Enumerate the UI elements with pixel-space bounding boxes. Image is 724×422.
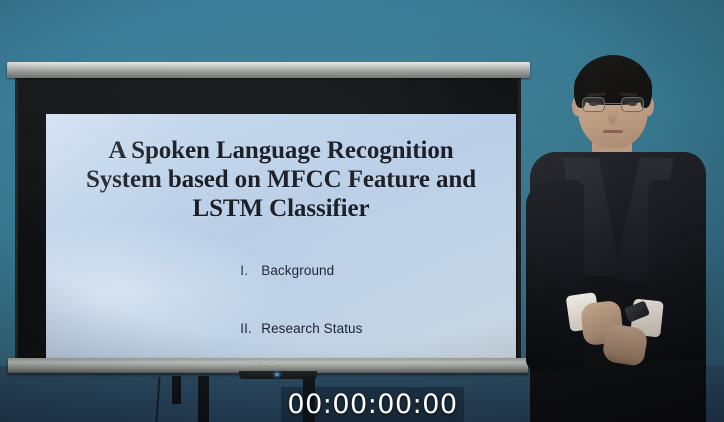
slide-title: A Spoken Language Recognition System bas… bbox=[58, 136, 504, 223]
list-item: II.Research Status bbox=[194, 300, 494, 359]
display-stand-leg-center bbox=[198, 376, 209, 422]
flat-panel-display[interactable]: A Spoken Language Recognition System bas… bbox=[7, 62, 530, 378]
eyeglass-bridge bbox=[605, 103, 621, 104]
timecode-display: 00:00:00:00 bbox=[281, 387, 464, 422]
slide-title-line-1: A Spoken Language Recognition bbox=[58, 136, 504, 165]
presentation-slide[interactable]: A Spoken Language Recognition System bas… bbox=[46, 114, 516, 360]
presenter-mouth bbox=[603, 130, 623, 133]
eyeglass-lens-right bbox=[621, 97, 644, 112]
outline-label: Background bbox=[261, 263, 334, 278]
display-stand-leg-left bbox=[172, 376, 181, 404]
presenter-hand-right bbox=[601, 323, 648, 367]
list-item: I.Background bbox=[194, 241, 494, 300]
presenter-nose bbox=[608, 108, 617, 124]
slide-title-line-2: System based on MFCC Feature and bbox=[58, 165, 504, 194]
outline-numeral: I. bbox=[240, 261, 261, 281]
eyeglass-lens-left bbox=[582, 97, 605, 112]
slide-title-line-3: LSTM Classifier bbox=[58, 194, 504, 223]
display-brand-logo: TEACH bbox=[232, 360, 302, 369]
presenter bbox=[520, 40, 724, 422]
video-frame: A Spoken Language Recognition System bas… bbox=[0, 0, 724, 422]
display-bezel-top bbox=[7, 62, 530, 78]
power-led-icon bbox=[275, 373, 279, 376]
slide-outline-list: I.Background II.Research Status III.Meth… bbox=[194, 241, 494, 360]
presenter-arm-left bbox=[526, 180, 584, 370]
display-bezel-inner: A Spoken Language Recognition System bas… bbox=[15, 76, 521, 362]
outline-label: Research Status bbox=[261, 321, 362, 336]
outline-numeral: II. bbox=[240, 319, 261, 339]
